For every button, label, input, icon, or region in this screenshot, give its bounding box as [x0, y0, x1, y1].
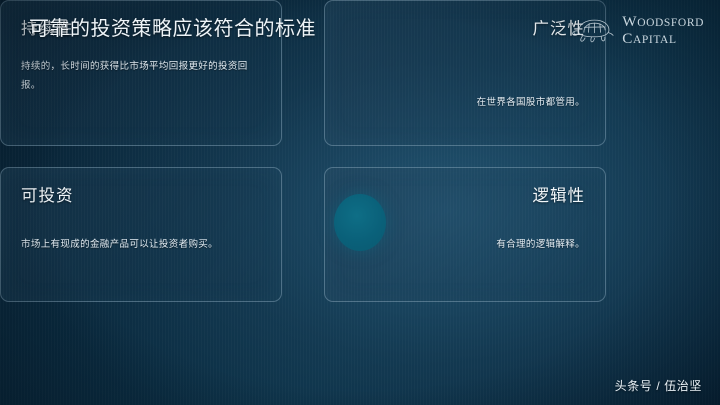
footer-credit: 头条号 / 伍治坚	[615, 378, 702, 394]
brand-logo: WOODSFORD CAPITAL	[571, 13, 704, 47]
card-investable[interactable]: 可投资 市场上有现成的金融产品可以让投资者购买。	[0, 167, 282, 302]
page-title: 可靠的投资策略应该符合的标准	[29, 14, 316, 44]
criteria-grid: 持续性 持续的，长时间的获得比市场平均回报更好的投资回报。 广泛性 在世界各国股…	[0, 0, 606, 302]
brand-wordmark: WOODSFORD CAPITAL	[622, 13, 704, 47]
slide-canvas: 可靠的投资策略应该符合的标准	[0, 0, 720, 405]
brand-wordmark-line2: CAPITAL	[622, 30, 704, 47]
center-accent-circle	[334, 194, 386, 251]
card-investable-title: 可投资	[21, 185, 261, 207]
card-investable-body: 市场上有现成的金融产品可以让投资者购买。	[21, 235, 261, 254]
card-logical-title: 逻辑性	[345, 185, 585, 207]
card-pervasiveness[interactable]: 广泛性 在世界各国股市都管用。	[324, 0, 606, 146]
card-pervasiveness-title: 广泛性	[345, 18, 585, 40]
brand-wordmark-line1: WOODSFORD	[622, 13, 704, 30]
tortoise-icon	[571, 15, 615, 45]
card-pervasiveness-body: 在世界各国股市都管用。	[345, 93, 585, 112]
card-sustainability-body: 持续的，长时间的获得比市场平均回报更好的投资回报。	[21, 57, 253, 95]
